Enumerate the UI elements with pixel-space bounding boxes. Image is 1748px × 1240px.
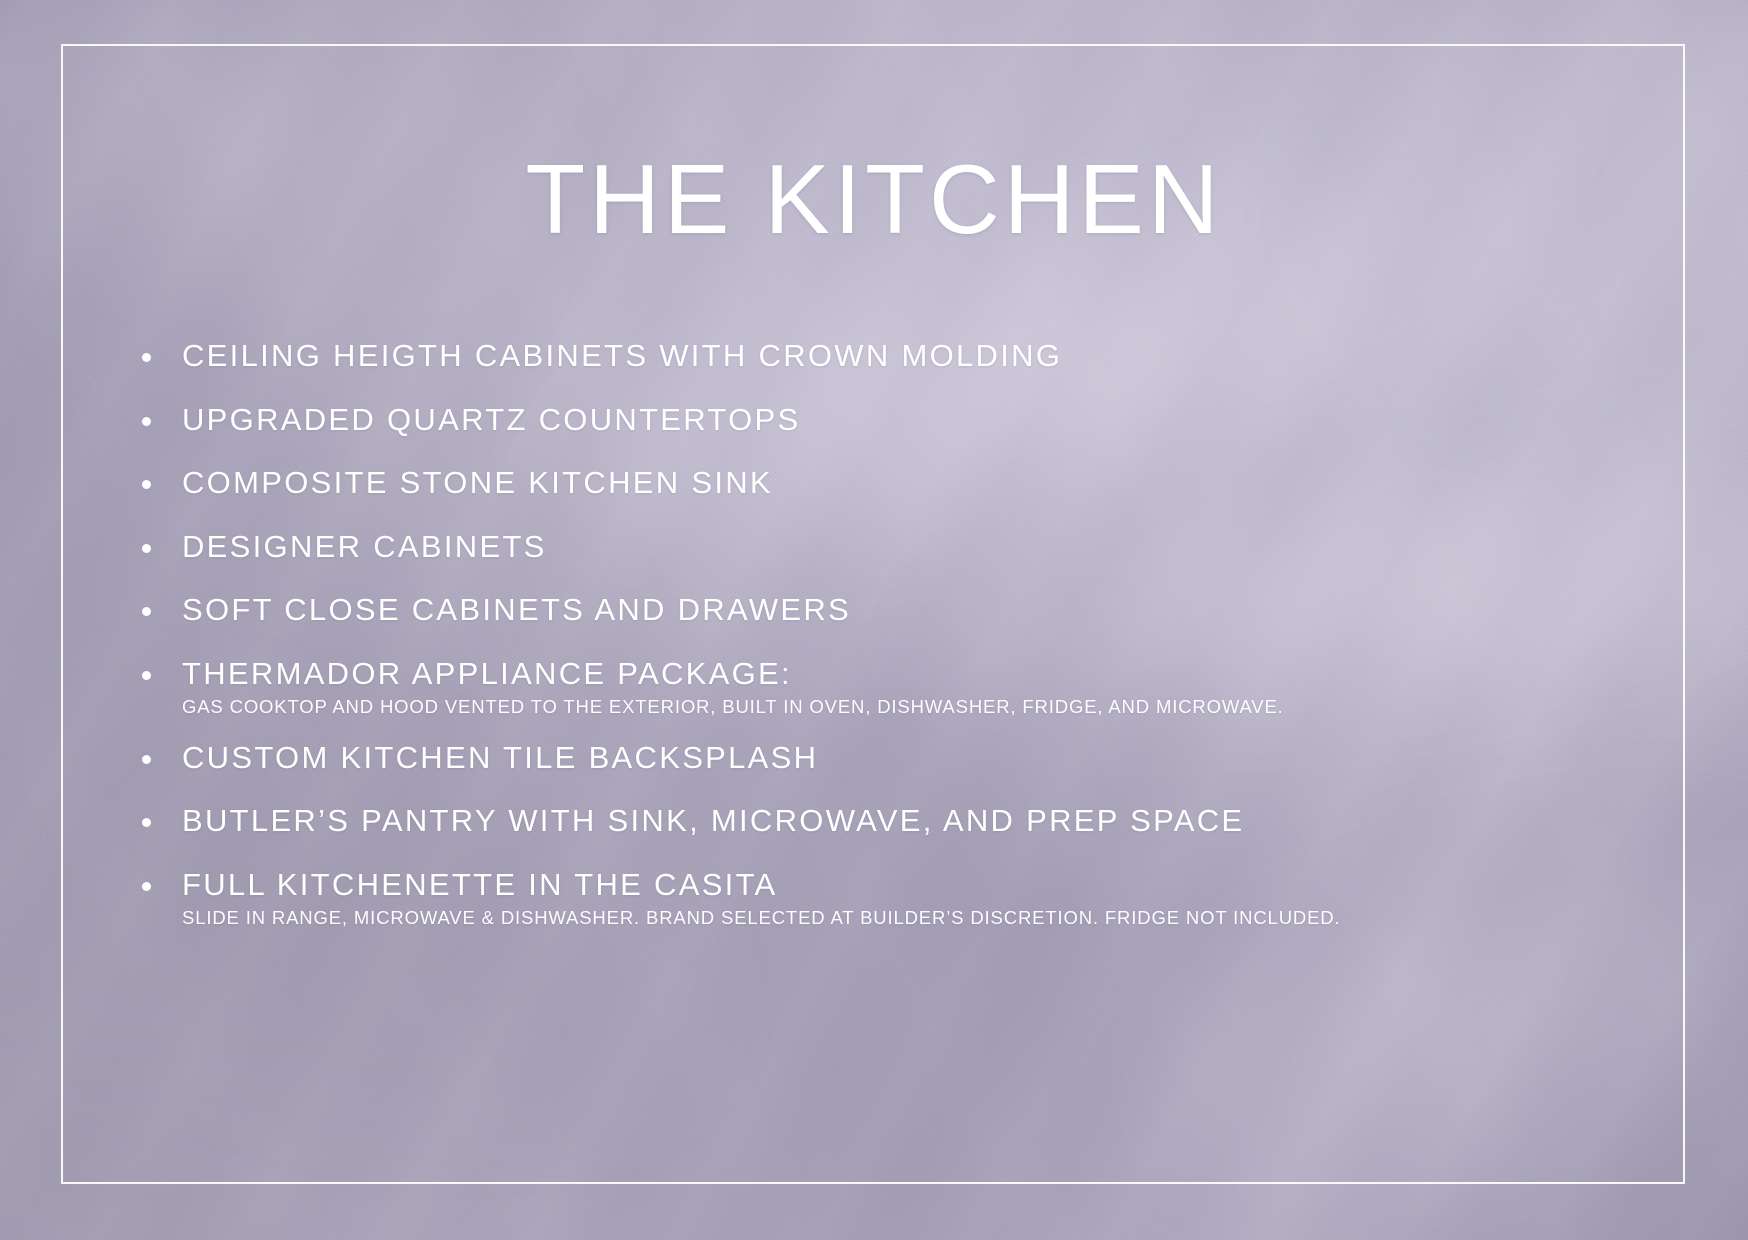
feature-note: GAS COOKTOP AND HOOD VENTED TO THE EXTER… — [182, 696, 1616, 718]
list-item: FULL KITCHENETTE IN THE CASITA SLIDE IN … — [136, 867, 1616, 930]
feature-label: DESIGNER CABINETS — [182, 529, 1616, 566]
list-item: CUSTOM KITCHEN TILE BACKSPLASH — [136, 740, 1616, 777]
bullet-dot-icon — [142, 480, 151, 489]
feature-label: CEILING HEIGTH CABINETS WITH CROWN MOLDI… — [182, 338, 1616, 375]
feature-label: SOFT CLOSE CABINETS AND DRAWERS — [182, 592, 1616, 629]
list-item: DESIGNER CABINETS — [136, 529, 1616, 566]
page-title: THE KITCHEN — [0, 150, 1748, 248]
feature-label: THERMADOR APPLIANCE PACKAGE: — [182, 656, 1616, 693]
bullet-dot-icon — [142, 671, 151, 680]
slide-content: THE KITCHEN CEILING HEIGTH CABINETS WITH… — [0, 0, 1748, 1240]
bullet-dot-icon — [142, 417, 151, 426]
bullet-dot-icon — [142, 882, 151, 891]
feature-label: BUTLER’S PANTRY WITH SINK, MICROWAVE, AN… — [182, 803, 1616, 840]
bullet-dot-icon — [142, 755, 151, 764]
feature-note: SLIDE IN RANGE, MICROWAVE & DISHWASHER. … — [182, 907, 1616, 929]
list-item: THERMADOR APPLIANCE PACKAGE: GAS COOKTOP… — [136, 656, 1616, 719]
bullet-dot-icon — [142, 607, 151, 616]
list-item: COMPOSITE STONE KITCHEN SINK — [136, 465, 1616, 502]
presentation-slide: THE KITCHEN CEILING HEIGTH CABINETS WITH… — [0, 0, 1748, 1240]
list-item: BUTLER’S PANTRY WITH SINK, MICROWAVE, AN… — [136, 803, 1616, 840]
feature-list: CEILING HEIGTH CABINETS WITH CROWN MOLDI… — [136, 338, 1616, 951]
list-item: SOFT CLOSE CABINETS AND DRAWERS — [136, 592, 1616, 629]
list-item: UPGRADED QUARTZ COUNTERTOPS — [136, 402, 1616, 439]
bullet-dot-icon — [142, 544, 151, 553]
feature-label: UPGRADED QUARTZ COUNTERTOPS — [182, 402, 1616, 439]
list-item: CEILING HEIGTH CABINETS WITH CROWN MOLDI… — [136, 338, 1616, 375]
bullet-dot-icon — [142, 353, 151, 362]
feature-label: CUSTOM KITCHEN TILE BACKSPLASH — [182, 740, 1616, 777]
feature-label: FULL KITCHENETTE IN THE CASITA — [182, 867, 1616, 904]
feature-label: COMPOSITE STONE KITCHEN SINK — [182, 465, 1616, 502]
bullet-dot-icon — [142, 818, 151, 827]
